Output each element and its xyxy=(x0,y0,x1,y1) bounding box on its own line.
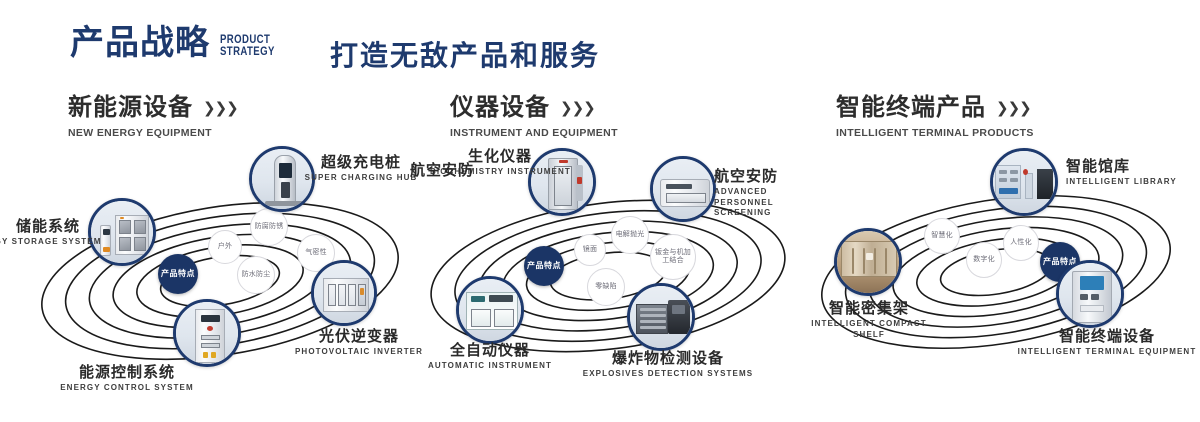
label-en: ENERGY CONTROL SYSTEM xyxy=(42,383,212,393)
label-en: INTELLIGENT COMPACT SHELF xyxy=(794,319,944,340)
node-photo-automatic-instrument[interactable] xyxy=(456,276,524,344)
section-title-en: INSTRUMENT AND EQUIPMENT xyxy=(450,127,618,139)
feature-bubble-label: 户外 xyxy=(218,243,232,251)
chevron-right-icon: ❯❯❯ xyxy=(996,101,1031,116)
core-badge: 产品特点 xyxy=(524,246,564,286)
label-en: INTELLIGENT LIBRARY xyxy=(1066,177,1177,187)
section-heading-instrument: 仪器设备 ❯❯❯ INSTRUMENT AND EQUIPMENT xyxy=(450,96,618,139)
node-photo-explosives-detection[interactable] xyxy=(627,283,695,351)
label-en: INTELLIGENT TERMINAL EQUIPMENT xyxy=(1014,347,1200,357)
core-badge-label: 产品特点 xyxy=(527,261,561,270)
feature-bubble-1: 镜面 xyxy=(574,234,606,266)
label-cn: 光伏逆变器 xyxy=(294,328,424,345)
feature-bubble-3: 数字化 xyxy=(966,242,1002,278)
label-energy-storage: 储能系统 ENERGY STORAGE SYSTEM xyxy=(0,218,80,248)
node-photo-intelligent-terminal-equipment[interactable] xyxy=(1056,260,1124,328)
photo-intelligent-compact-shelf xyxy=(837,231,899,293)
page-title-cn: 产品战略 xyxy=(70,26,210,60)
label-cn: 航空安防 xyxy=(410,162,474,179)
node-photo-energy-storage[interactable] xyxy=(88,198,156,266)
diagram-intelligent-terminal: 智慧化 数字化 人性化 产品特点 xyxy=(800,150,1200,412)
feature-bubble-label: 数字化 xyxy=(973,256,995,264)
label-explosives-detection: 爆炸物检测设备 EXPLOSIVES DETECTION SYSTEMS xyxy=(578,350,758,380)
label-energy-control: 能源控制系统 ENERGY CONTROL SYSTEM xyxy=(42,364,212,394)
feature-bubble-label: 电解抛光 xyxy=(616,231,645,239)
photo-intelligent-library xyxy=(993,151,1055,213)
photo-explosives-detection xyxy=(630,286,692,348)
page-title-en-line2: STRATEGY xyxy=(220,44,275,58)
photo-intelligent-terminal-equipment xyxy=(1059,263,1121,325)
section-heading-row: 仪器设备 ❯❯❯ xyxy=(450,96,618,120)
label-aviation-security-left: 航空安防 xyxy=(410,162,474,179)
label-intelligent-library: 智能馆库 INTELLIGENT LIBRARY xyxy=(1066,158,1177,188)
feature-bubble-label: 零缺陷 xyxy=(595,283,617,291)
section-heading-new-energy: 新能源设备 ❯❯❯ NEW ENERGY EQUIPMENT xyxy=(68,96,238,139)
product-strategy-infographic: 产品战略 PRODUCT STRATEGY 打造无敌产品和服务 新能源设备 ❯❯… xyxy=(0,0,1200,422)
node-photo-photovoltaic-inverter[interactable] xyxy=(311,260,377,326)
label-en: PHOTOVOLTAIC INVERTER xyxy=(294,347,424,357)
feature-bubble-2: 电解抛光 xyxy=(611,216,649,254)
label-cn: 智能密集架 xyxy=(794,300,944,317)
chevron-right-icon: ❯❯❯ xyxy=(203,101,238,116)
photo-energy-storage xyxy=(91,201,153,263)
feature-bubble-label: 智慧化 xyxy=(931,232,953,240)
feature-bubble-4: 零缺陷 xyxy=(587,268,625,306)
core-badge-label: 产品特点 xyxy=(161,269,195,278)
label-cn: 爆炸物检测设备 xyxy=(578,350,758,367)
label-intelligent-compact-shelf: 智能密集架 INTELLIGENT COMPACT SHELF xyxy=(794,300,944,340)
section-title-en: INTELLIGENT TERMINAL PRODUCTS xyxy=(836,127,1034,139)
core-badge: 产品特点 xyxy=(158,254,198,294)
label-en: AUTOMATIC INSTRUMENT xyxy=(416,361,564,371)
label-cn: 储能系统 xyxy=(0,218,80,235)
photo-photovoltaic-inverter xyxy=(314,263,374,323)
node-photo-energy-control[interactable] xyxy=(173,299,241,367)
feature-bubble-label: 钣金与机加工结合 xyxy=(652,249,694,265)
label-photovoltaic-inverter: 光伏逆变器 PHOTOVOLTAIC INVERTER xyxy=(294,328,424,358)
label-automatic-instrument: 全自动仪器 AUTOMATIC INSTRUMENT xyxy=(416,342,564,372)
feature-bubble-label: 防水防尘 xyxy=(242,271,271,279)
label-cn: 智能馆库 xyxy=(1066,158,1177,175)
feature-bubble-label: 人性化 xyxy=(1010,239,1032,247)
page-title: 产品战略 PRODUCT STRATEGY xyxy=(70,26,288,60)
section-title-en: NEW ENERGY EQUIPMENT xyxy=(68,127,238,139)
feature-bubble-label: 镜面 xyxy=(583,246,597,254)
label-cn: 能源控制系统 xyxy=(42,364,212,381)
node-photo-personnel-screening[interactable] xyxy=(650,156,716,222)
section-heading-intelligent-terminal: 智能终端产品 ❯❯❯ INTELLIGENT TERMINAL PRODUCTS xyxy=(836,96,1034,139)
section-title-cn: 智能终端产品 xyxy=(836,96,986,120)
feature-bubble-2: 人性化 xyxy=(1003,225,1039,261)
diagram-instrument: 产品特点 镜面 电解抛光 钣金与机加工结合 零缺陷 生化仪器 xyxy=(408,150,808,412)
photo-personnel-screening xyxy=(653,159,713,219)
section-heading-row: 智能终端产品 ❯❯❯ xyxy=(836,96,1034,120)
node-photo-intelligent-compact-shelf[interactable] xyxy=(834,228,902,296)
photo-energy-control xyxy=(176,302,238,364)
label-en: SUPER CHARGING HUB xyxy=(296,173,426,183)
label-cn: 智能终端设备 xyxy=(1014,328,1200,345)
page-title-en: PRODUCT STRATEGY xyxy=(220,33,275,57)
node-photo-intelligent-library[interactable] xyxy=(990,148,1058,216)
section-title-cn: 仪器设备 xyxy=(450,96,550,120)
section-heading-row: 新能源设备 ❯❯❯ xyxy=(68,96,238,120)
label-intelligent-terminal-equipment: 智能终端设备 INTELLIGENT TERMINAL EQUIPMENT xyxy=(1014,328,1200,358)
feature-bubble-3: 钣金与机加工结合 xyxy=(650,234,696,280)
diagram-new-energy: 产品特点 户外 防腐防锈 气密性 防水防尘 xyxy=(20,150,420,412)
feature-bubble-1: 户外 xyxy=(208,230,242,264)
section-title-cn: 新能源设备 xyxy=(68,96,193,120)
page-subtitle: 打造无敌产品和服务 xyxy=(330,34,600,74)
feature-bubble-1: 智慧化 xyxy=(924,218,960,254)
photo-automatic-instrument xyxy=(459,279,521,341)
label-super-charging-hub: 超级充电桩 SUPER CHARGING HUB xyxy=(296,154,426,184)
label-en: EXPLOSIVES DETECTION SYSTEMS xyxy=(578,369,758,379)
feature-bubble-2: 防腐防锈 xyxy=(250,208,288,246)
feature-bubble-label: 气密性 xyxy=(305,249,327,257)
label-cn: 超级充电桩 xyxy=(296,154,426,171)
feature-bubble-label: 防腐防锈 xyxy=(255,223,284,231)
feature-bubble-4: 防水防尘 xyxy=(237,256,275,294)
label-cn: 全自动仪器 xyxy=(416,342,564,359)
label-en: ENERGY STORAGE SYSTEM xyxy=(0,237,80,247)
chevron-right-icon: ❯❯❯ xyxy=(560,101,595,116)
